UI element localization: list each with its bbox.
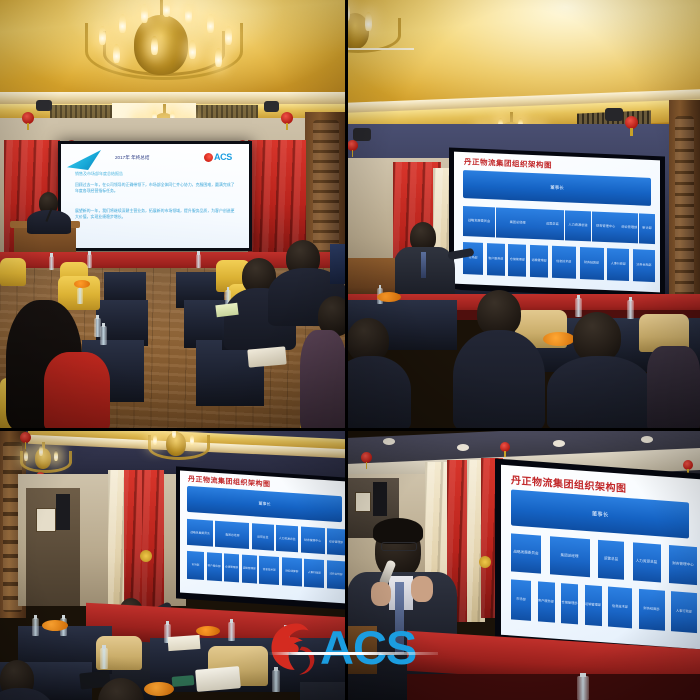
org-box: 人事行政部 <box>671 591 697 633</box>
org-box: 运营总监 <box>598 540 624 580</box>
chandelier <box>85 0 237 100</box>
org-box: 运输管理部 <box>242 555 257 584</box>
water-bottle <box>77 288 83 304</box>
red-lantern <box>361 452 372 463</box>
slide-subhead: 销售及市场部年度总结报告 <box>75 171 123 177</box>
org-chart-title: 丹正物流集团组织架构图 <box>464 156 552 171</box>
audience-member <box>300 330 347 430</box>
speaker-cabinet <box>373 482 387 516</box>
fruit-plate <box>377 292 401 302</box>
water-bottle <box>87 254 92 268</box>
water-bottle <box>228 622 235 641</box>
org-box: 法务合规部 <box>327 560 345 589</box>
org-box: 仓储管理部 <box>508 244 526 277</box>
org-box: 财务结算部 <box>580 247 604 280</box>
org-chart-level-3: 市场部 客户服务部 仓储管理部 运输管理部 信息技术部 财务结算部 人事行政部 … <box>187 551 345 589</box>
org-box: 财务结算部 <box>282 557 302 586</box>
led-wall-screen[interactable]: 丹正物流集团组织架构图 董事长 战略发展委员会 集团总经理 运营总监 人力资源总… <box>501 465 700 650</box>
org-box: 财务结算部 <box>639 589 665 631</box>
org-box: 综合管理部 <box>327 528 345 555</box>
spotlight-icon <box>605 108 623 121</box>
framed-picture <box>36 508 56 532</box>
water-bottle <box>575 298 582 317</box>
speaker-cabinet <box>56 494 70 530</box>
org-box: 人事行政部 <box>607 248 629 281</box>
org-box: 客户服务部 <box>538 581 555 622</box>
chair <box>0 258 26 286</box>
org-box: 市场部 <box>187 551 204 580</box>
slide-logo-mark <box>67 150 101 170</box>
slide-acs-text: ACS <box>214 152 232 163</box>
red-lantern <box>500 442 510 452</box>
org-box: 财务管理中心 <box>592 211 620 242</box>
org-box: 运输管理部 <box>530 245 548 278</box>
org-chart-level-2: 战略发展委员会 集团总经理 运营总监 人力资源总监 财务管理中心 综合管理部 审… <box>463 206 655 244</box>
fruit-plate <box>196 626 220 636</box>
audience-document <box>247 346 286 367</box>
org-box: 客户服务部 <box>487 243 505 276</box>
fruit-plate <box>543 332 575 346</box>
org-chart-level-2: 战略发展委员会 集团总经理 运营总监 人力资源总监 财务管理中心 综合管理部 <box>187 519 345 555</box>
projector-icon <box>36 100 52 111</box>
water-bottle <box>100 648 108 669</box>
fruit-plate <box>144 682 174 696</box>
phone-device <box>172 675 195 687</box>
audience-member <box>453 330 545 430</box>
curtain-tieback <box>140 550 152 562</box>
org-box: 财务管理中心 <box>669 545 697 585</box>
audience-member <box>647 346 700 430</box>
collage-seam-vertical <box>345 0 348 700</box>
org-box: 市场部 <box>511 579 531 620</box>
org-box: 人力资源总监 <box>276 525 298 552</box>
acs-wordmark: ACS <box>320 624 416 671</box>
red-lantern <box>281 112 293 124</box>
org-box: 运营总监 <box>540 209 564 240</box>
acs-logo-bar <box>268 652 438 655</box>
org-box: 财务管理中心 <box>301 526 325 554</box>
ceiling-light <box>641 436 653 443</box>
fruit-plate <box>74 280 90 288</box>
panel-top-left[interactable]: 2017年 年终总结 ACS 销售及市场部年度总结报告 回顾过去一年，在公司领导… <box>0 0 347 430</box>
slide-header: 2017年 年终总结 <box>115 155 149 161</box>
slide-paragraph-2: 展望新的一年，我们将继续深耕主营业务，拓展新的市场领域，提升服务品质，为客户创造… <box>75 208 237 220</box>
org-chart-top-box: 董事长 <box>463 170 651 206</box>
curtain-tieback <box>479 556 491 568</box>
chandelier-partial <box>347 2 395 64</box>
ceiling-light <box>383 438 395 445</box>
org-box: 人力资源总监 <box>633 542 661 582</box>
fruit-plate <box>42 620 68 631</box>
spotlight-icon <box>264 101 279 112</box>
red-lantern <box>22 112 34 124</box>
ceiling-grille <box>50 105 112 119</box>
panel-top-right[interactable]: 丹正物流集团组织架构图 董事长 战略发展委员会 集团总经理 运营总监 人力资源总… <box>347 0 700 430</box>
led-wall-screen[interactable]: 丹正物流集团组织架构图 董事长 战略发展委员会 集团总经理 运营总监 人力资源总… <box>180 470 347 603</box>
org-box: 集团总经理 <box>550 536 590 577</box>
slide-acs-logo: ACS <box>204 152 240 163</box>
spotlight-icon <box>353 128 371 141</box>
framed-picture <box>355 492 371 512</box>
org-box: 信息技术部 <box>608 587 632 629</box>
org-box: 运营总监 <box>252 523 274 550</box>
org-chart-top-box: 董事长 <box>511 489 689 538</box>
org-box: 信息技术部 <box>259 556 279 585</box>
red-lantern <box>625 116 638 129</box>
water-bottle <box>627 300 634 319</box>
presenter-tie <box>421 252 426 278</box>
projection-screen[interactable]: 2017年 年终总结 ACS 销售及市场部年度总结报告 回顾过去一年，在公司领导… <box>61 144 249 248</box>
slide-paragraph-1: 回顾过去一年，在公司领导的正确带领下，市场部全体同仁齐心协力，克服困难，圆满完成… <box>75 182 237 194</box>
org-box: 集团总经理 <box>496 207 540 239</box>
red-lantern <box>20 432 31 443</box>
led-wall-screen[interactable]: 丹正物流集团组织架构图 董事长 战略发展委员会 集团总经理 运营总监 人力资源总… <box>454 152 660 293</box>
org-box: 市场部 <box>463 242 483 275</box>
presenter-hand <box>371 582 391 606</box>
acs-logo-watermark: ACS <box>268 618 438 680</box>
collage-seam-horizontal <box>0 428 700 431</box>
water-bottle <box>577 676 589 700</box>
org-box: 综合管理部 <box>620 213 638 244</box>
org-box: 运输管理部 <box>585 585 602 626</box>
acs-swirl-icon <box>268 620 326 678</box>
org-box: 审计部 <box>639 213 655 244</box>
org-box: 战略发展委员会 <box>511 533 541 573</box>
org-box: 客户服务部 <box>207 552 222 581</box>
org-chart-top-box: 董事长 <box>187 486 342 522</box>
audience-member <box>44 352 110 430</box>
water-bottle <box>196 254 201 268</box>
org-box: 战略发展委员会 <box>187 519 213 547</box>
org-box: 战略发展委员会 <box>463 206 495 237</box>
org-box: 仓储管理部 <box>561 583 578 624</box>
audience-member <box>573 312 621 362</box>
photo-collage: 2017年 年终总结 ACS 销售及市场部年度总结报告 回顾过去一年，在公司领导… <box>0 0 700 700</box>
org-box: 集团总经理 <box>215 521 249 549</box>
org-box: 信息技术部 <box>552 246 576 279</box>
curtain-sheer <box>108 470 124 610</box>
chandelier <box>148 430 204 466</box>
audience-member <box>347 356 411 430</box>
ceiling-light <box>553 440 565 447</box>
audience-document <box>168 635 201 651</box>
water-bottle <box>100 326 107 345</box>
water-bottle <box>32 618 39 636</box>
audience-member <box>547 356 653 430</box>
org-box: 仓储管理部 <box>224 553 239 582</box>
presenter-hair <box>373 518 423 544</box>
red-lantern <box>683 460 693 470</box>
org-chart-level-3: 市场部 客户服务部 仓储管理部 运输管理部 信息技术部 财务结算部 人事行政部 … <box>463 242 655 282</box>
org-box: 人力资源总监 <box>565 210 591 241</box>
org-box: 法务合规部 <box>633 249 655 282</box>
water-bottle <box>49 256 54 270</box>
org-box: 人事行政部 <box>304 559 324 588</box>
org-chart-level-3: 市场部 客户服务部 仓储管理部 运输管理部 信息技术部 财务结算部 人事行政部 <box>511 579 697 633</box>
ceiling-grille <box>196 105 258 119</box>
org-chart-level-2: 战略发展委员会 集团总经理 运营总监 人力资源总监 财务管理中心 <box>511 533 697 585</box>
presenter-glasses-icon <box>381 542 417 551</box>
red-lantern <box>347 140 358 151</box>
ceiling-light <box>457 444 469 451</box>
presenter-hand <box>411 576 433 602</box>
curtain-right <box>142 470 164 610</box>
audience-document <box>195 666 241 692</box>
